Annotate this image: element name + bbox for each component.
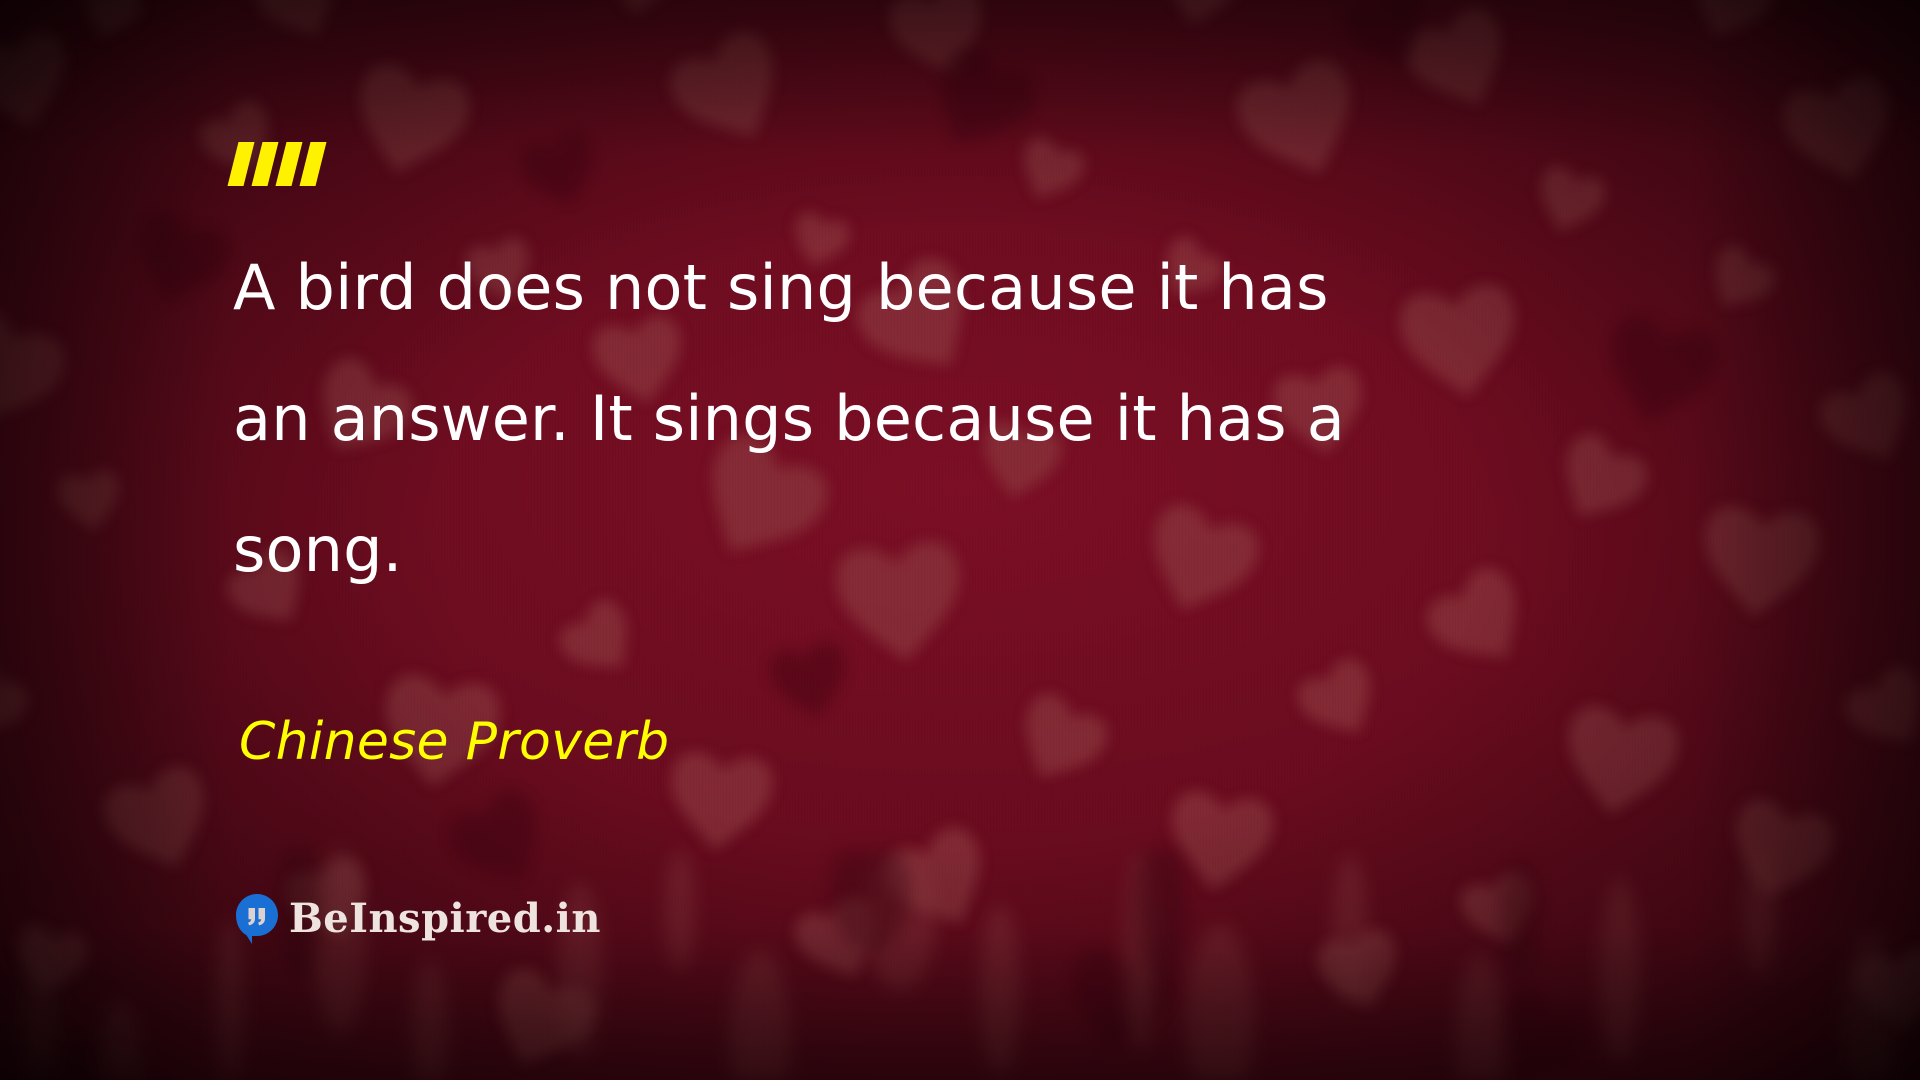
quote-image: A bird does not sing because it has an a… [0, 0, 1920, 1080]
quote-bar-3 [276, 142, 303, 186]
quote-attribution: Chinese Proverb [239, 711, 669, 773]
speech-bubble-quote-icon [235, 893, 279, 945]
quote-bars-icon [233, 142, 321, 186]
brand-name: BeInspired.in [289, 897, 601, 941]
brand-logo[interactable]: BeInspired.in [235, 893, 601, 945]
quote-bar-2 [252, 142, 279, 186]
quote-content: A bird does not sing because it has an a… [233, 0, 1653, 1080]
quote-bar-4 [300, 142, 327, 186]
quote-text: A bird does not sing because it has an a… [233, 222, 1623, 615]
